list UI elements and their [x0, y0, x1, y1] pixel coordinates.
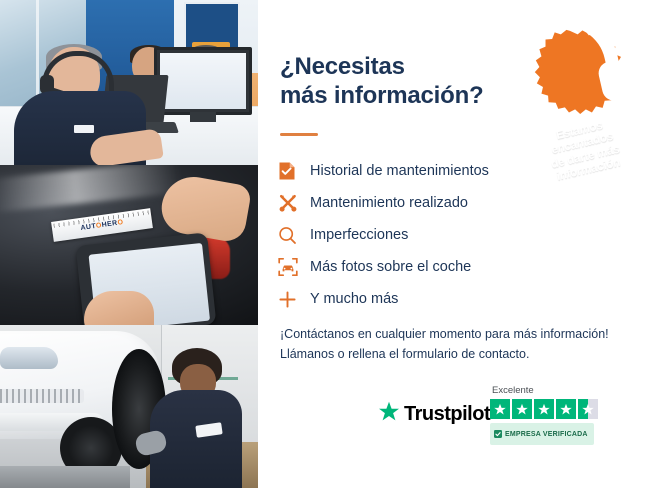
- heading-line-1: ¿Necesitas: [280, 52, 520, 81]
- feature-item-mas: Y mucho más: [278, 283, 618, 315]
- mechanic-wheel-photo: [0, 325, 258, 488]
- wrench-screwdriver-icon: [278, 193, 308, 213]
- star-filled: [534, 399, 554, 419]
- verified-check-icon: [494, 425, 502, 443]
- promo-card: AUTOHERO: [0, 0, 650, 488]
- page-title: ¿Necesitas más información?: [280, 52, 520, 111]
- inspector-hand-holding-tablet: [84, 291, 154, 325]
- verified-company-badge: EMPRESA VERIFICADA: [490, 423, 594, 445]
- photo-column: AUTOHERO: [0, 0, 258, 488]
- title-divider: [280, 133, 318, 136]
- paragraph-line-1: ¡Contáctanos en cualquier momento para m…: [280, 324, 636, 344]
- trustpilot-star-icon: [378, 401, 400, 427]
- desktop-monitor: [154, 47, 252, 115]
- star-filled: [490, 399, 510, 419]
- plus-icon: [278, 290, 308, 309]
- headlight: [0, 347, 58, 369]
- feature-item-historial: Historial de mantenimientos: [278, 155, 618, 187]
- feature-label: Imperfecciones: [308, 228, 408, 243]
- star-rating: [490, 399, 650, 419]
- feature-label: Y mucho más: [308, 292, 398, 307]
- car-inspection-ruler-photo: AUTOHERO: [0, 165, 258, 325]
- content-panel: ¿Necesitas más información?: [258, 0, 650, 488]
- feature-item-fotos: Más fotos sobre el coche: [278, 251, 618, 283]
- trustpilot-logo[interactable]: Trustpilot: [378, 401, 490, 427]
- starburst-shape: [508, 28, 632, 152]
- grille: [0, 389, 84, 403]
- trustpilot-rating: Excelente: [490, 385, 650, 445]
- verified-label: EMPRESA VERIFICADA: [505, 431, 588, 438]
- magnifier-icon: [278, 226, 308, 245]
- clipboard-check-icon: [278, 161, 308, 181]
- feature-list: Historial de mantenimientos M: [278, 155, 618, 315]
- star-filled: [556, 399, 576, 419]
- paragraph-line-2: Llámanos o rellena el formulario de cont…: [280, 344, 636, 364]
- star-half: [578, 399, 598, 419]
- call-center-agents-photo: [0, 0, 258, 165]
- feature-label: Mantenimiento realizado: [308, 196, 468, 211]
- car-scan-icon: [278, 257, 308, 277]
- feature-label: Historial de mantenimientos: [308, 164, 489, 179]
- trustpilot-wordmark: Trustpilot: [404, 403, 490, 426]
- contact-paragraph: ¡Contáctanos en cualquier momento para m…: [280, 324, 636, 365]
- rating-label: Excelente: [492, 385, 650, 396]
- star-filled: [512, 399, 532, 419]
- heading-line-2: más información?: [280, 81, 520, 110]
- foreground-agent: [14, 47, 146, 165]
- info-starburst-badge: Estamos encantados de darte más informac…: [508, 28, 632, 152]
- car-lift-ramp: [0, 466, 130, 488]
- feature-label: Más fotos sobre el coche: [308, 260, 471, 275]
- feature-item-imperfecciones: Imperfecciones: [278, 219, 618, 251]
- mechanic: [150, 348, 242, 488]
- feature-item-mantenimiento: Mantenimiento realizado: [278, 187, 618, 219]
- trustpilot-block[interactable]: Trustpilot Excelente: [378, 385, 650, 451]
